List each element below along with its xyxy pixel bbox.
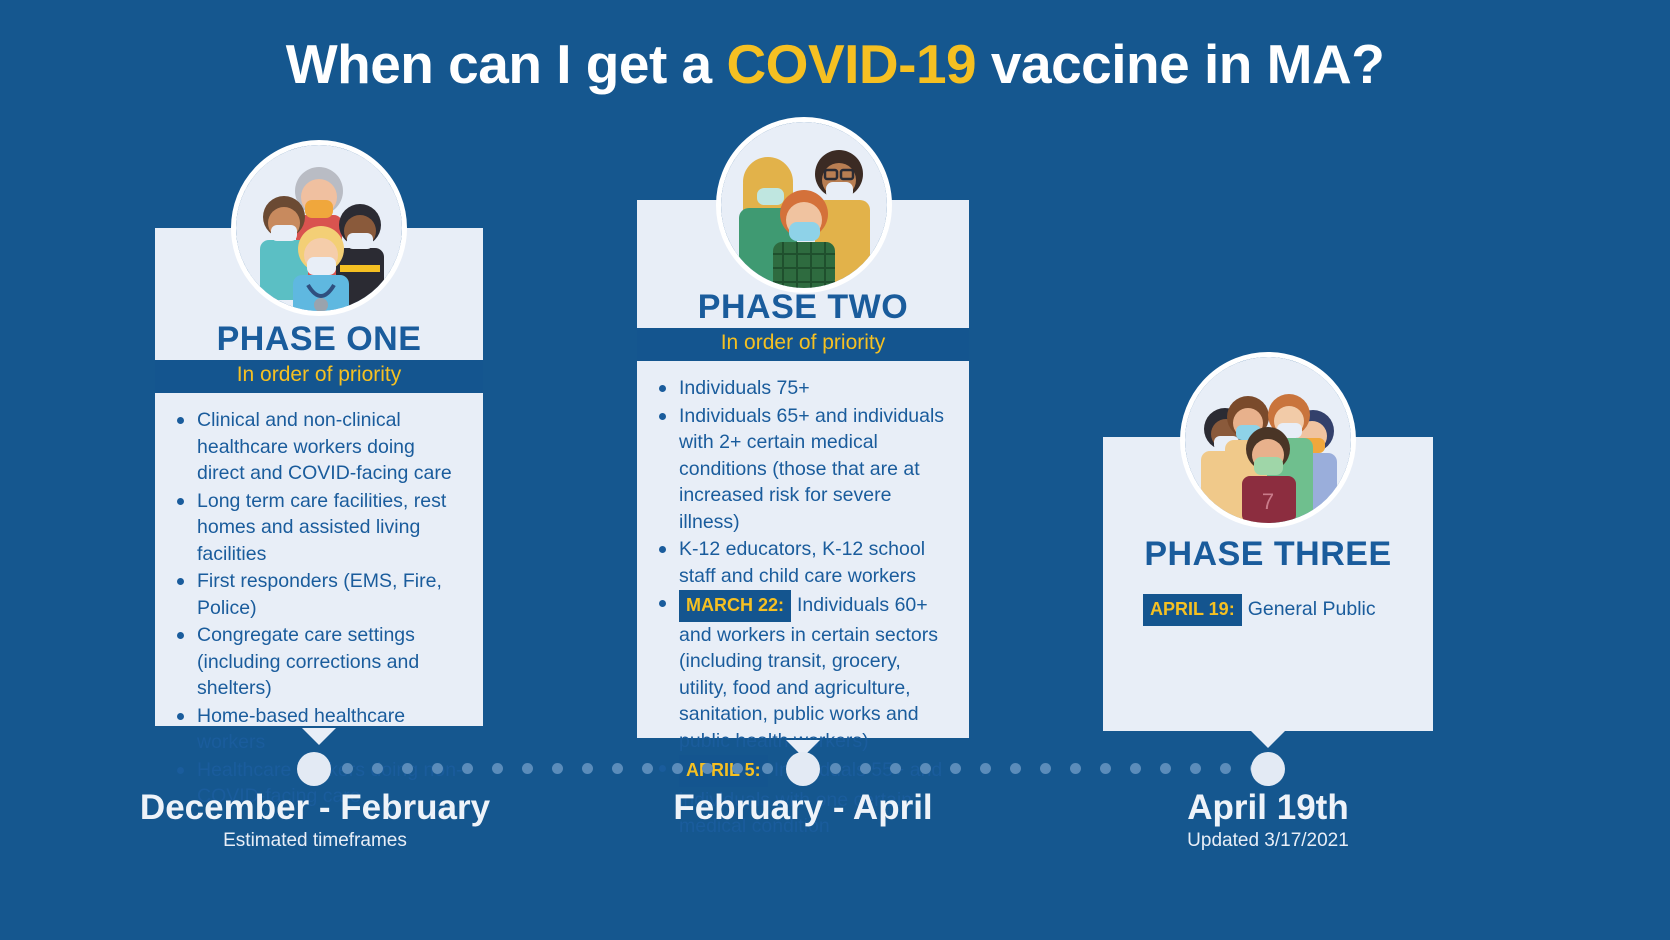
list-item: Long term care facilities, rest homes an…: [171, 488, 465, 568]
title-text-after: vaccine in MA?: [976, 33, 1384, 95]
list-item: Individuals 75+: [653, 375, 953, 402]
list-item: First responders (EMS, Fire, Police): [171, 568, 465, 621]
timeline-marker-phase-two: [786, 752, 820, 786]
phase-three-entry: APRIL 19:General Public: [1143, 594, 1417, 626]
phase-three-body: APRIL 19:General Public: [1103, 582, 1433, 731]
page-title: When can I get a COVID-19 vaccine in MA?: [0, 32, 1670, 96]
phase-one-body: Clinical and non-clinical healthcare wor…: [155, 393, 483, 726]
phase-two-title: PHASE TWO: [637, 288, 969, 327]
phase-two-avatar: [716, 117, 892, 293]
timeline-label-one: December - February Estimated timeframes: [75, 788, 555, 852]
phase-one-avatar: [231, 140, 407, 316]
list-item: Clinical and non-clinical healthcare wor…: [171, 407, 465, 487]
timeline-label-three-main: April 19th: [1028, 788, 1508, 828]
phase-three-avatar: 7: [1180, 352, 1356, 528]
timeline-label-two: February - April: [563, 788, 1043, 830]
phase-two-priority-note: In order of priority: [637, 328, 969, 361]
infographic-canvas: When can I get a COVID-19 vaccine in MA?…: [0, 0, 1670, 940]
phase-one-list: Clinical and non-clinical healthcare wor…: [171, 407, 465, 810]
phase-one-people-illustration: [236, 145, 402, 311]
timeline-label-three: April 19th Updated 3/17/2021: [1028, 788, 1508, 852]
title-highlight-covid19: COVID-19: [726, 33, 976, 95]
phase-two-body: Individuals 75+ Individuals 65+ and indi…: [637, 361, 969, 738]
timeline-label-three-sub: Updated 3/17/2021: [1028, 830, 1508, 852]
phase-one-pointer: [302, 728, 336, 745]
timeline-label-one-main: December - February: [75, 788, 555, 828]
list-item: K-12 educators, K-12 school staff and ch…: [653, 536, 953, 589]
date-badge-march-22: MARCH 22:: [679, 590, 791, 622]
timeline-marker-phase-three: [1251, 752, 1285, 786]
title-text-before: When can I get a: [286, 33, 727, 95]
phase-three-people-illustration: 7: [1185, 357, 1351, 523]
svg-text:7: 7: [1262, 489, 1274, 514]
phase-three-title: PHASE THREE: [1103, 535, 1433, 574]
list-item: Individuals 65+ and individuals with 2+ …: [653, 403, 953, 536]
list-item: Congregate care settings (including corr…: [171, 622, 465, 702]
phase-two-people-illustration: [721, 122, 887, 288]
phase-three-entry-text: General Public: [1248, 598, 1376, 620]
phase-three-pointer: [1251, 731, 1285, 748]
list-item-dated: MARCH 22:Individuals 60+ and workers in …: [653, 590, 953, 754]
phase-one-title: PHASE ONE: [155, 320, 483, 359]
date-badge-april-19: APRIL 19:: [1143, 594, 1242, 626]
timeline-label-two-main: February - April: [563, 788, 1043, 828]
phase-one-priority-note: In order of priority: [155, 360, 483, 393]
timeline-label-one-sub: Estimated timeframes: [75, 830, 555, 852]
timeline-marker-phase-one: [297, 752, 331, 786]
